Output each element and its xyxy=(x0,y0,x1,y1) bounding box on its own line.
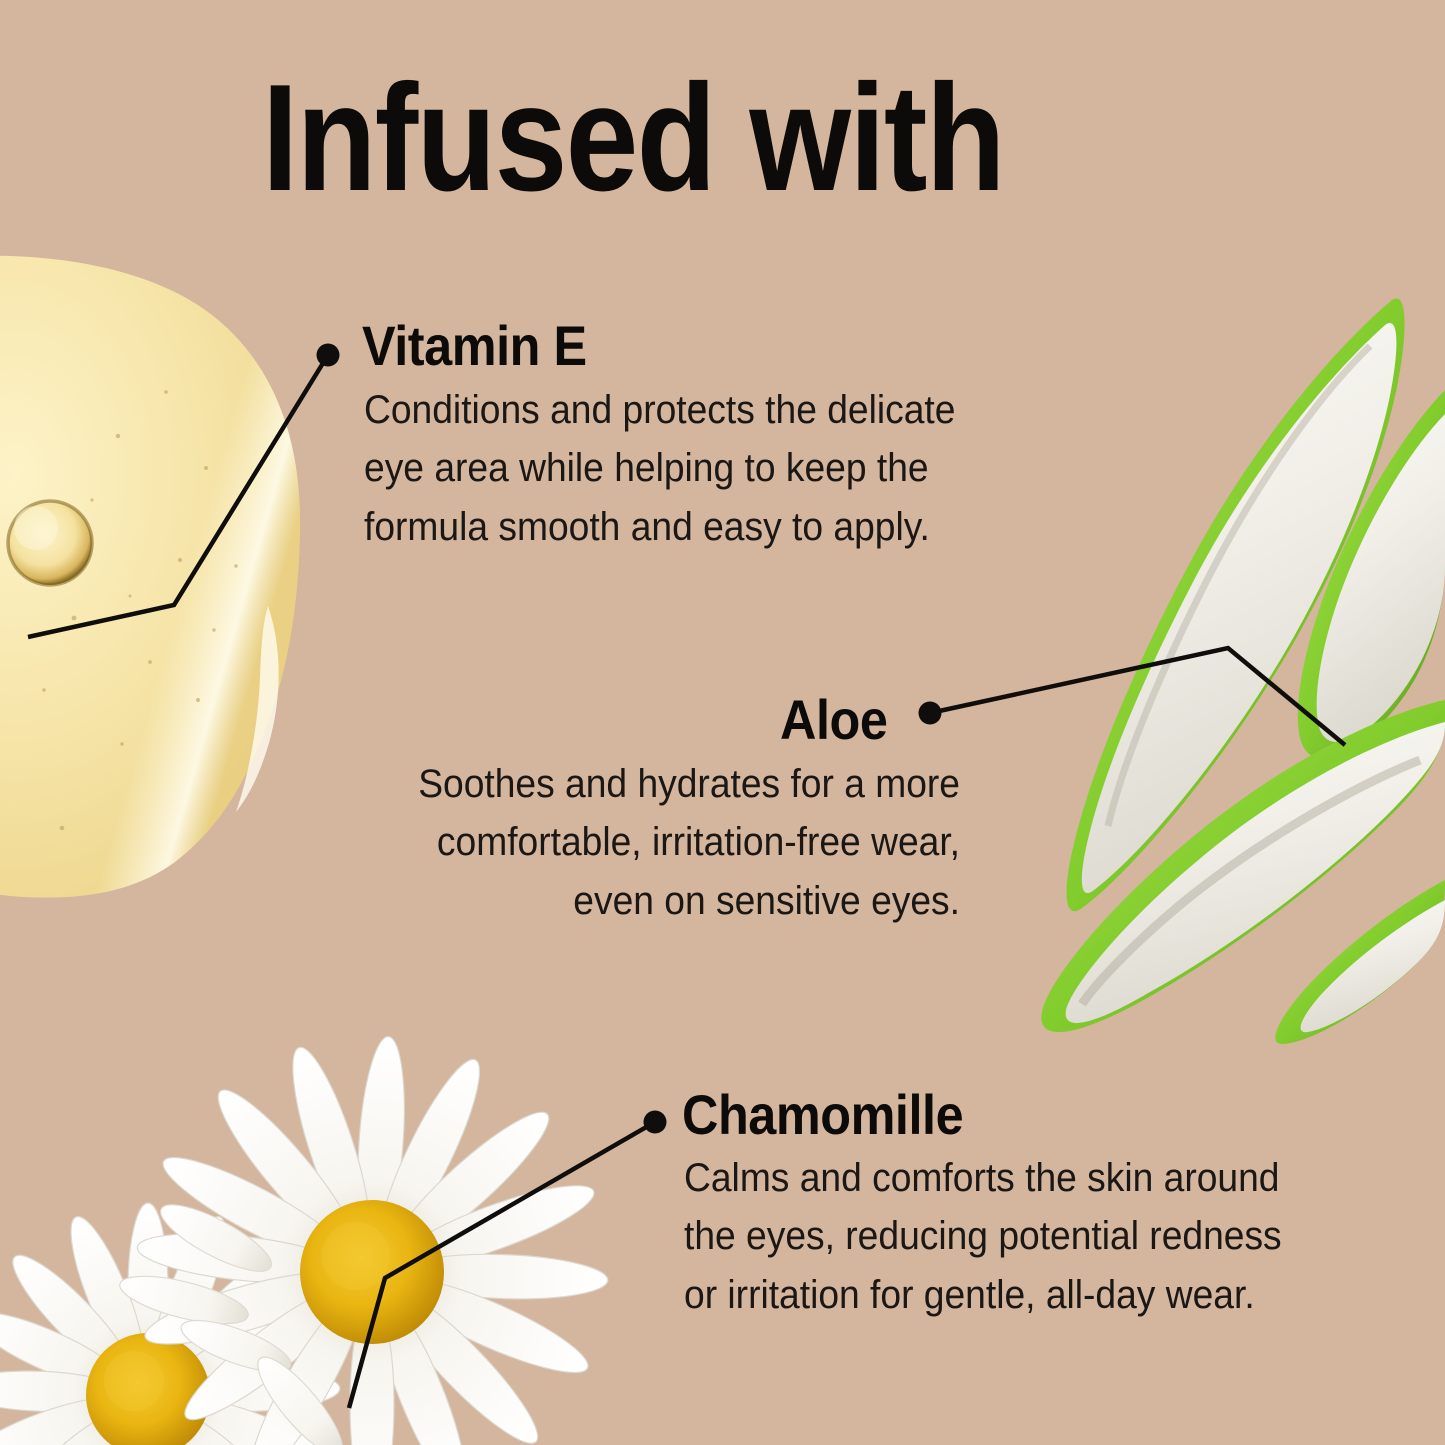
ingredient-description-vitamin-e: Conditions and protects the delicate eye… xyxy=(364,381,1015,556)
aloe-leaf-4 xyxy=(1275,880,1445,1044)
aloe-leaf-3 xyxy=(1041,700,1445,1032)
chamomile-flowers-group xyxy=(0,1035,609,1445)
vitamin-e-leader xyxy=(28,344,340,638)
ingredient-title-vitamin-e: Vitamin E xyxy=(362,318,587,374)
vitamin-e-leader-line xyxy=(28,355,328,637)
serum-blob-shape xyxy=(0,256,300,898)
serum-droplet xyxy=(8,501,92,585)
chamomile-flower-front xyxy=(135,1035,609,1445)
ingredient-description-aloe: Soothes and hydrates for a more comforta… xyxy=(346,755,960,930)
serum-blob-group xyxy=(0,256,300,898)
aloe-leader xyxy=(919,648,1346,745)
aloe-leaf-2 xyxy=(1298,390,1445,759)
serum-blob-highlight xyxy=(236,606,279,812)
aloe-marker-dot xyxy=(919,702,942,725)
serum-blob-sheen xyxy=(0,256,300,898)
chamomille-leader xyxy=(349,1111,667,1409)
ingredient-title-chamomille: Chamomille xyxy=(682,1087,963,1143)
aloe-leader-line xyxy=(930,648,1345,745)
aloe-leaf-1 xyxy=(1067,299,1405,912)
ingredient-description-chamomille: Calms and comforts the skin around the e… xyxy=(684,1149,1316,1324)
serum-speckles xyxy=(42,390,238,830)
vitamin-e-marker-dot xyxy=(317,344,340,367)
page-title: Infused with xyxy=(262,62,1004,214)
ingredient-infographic-poster: Infused with Vitamin E Conditions and pr… xyxy=(0,0,1445,1445)
ingredient-title-aloe: Aloe xyxy=(780,692,887,748)
chamomile-loose-petals xyxy=(116,1193,354,1445)
chamomille-marker-dot xyxy=(644,1111,667,1134)
chamomille-leader-line xyxy=(349,1122,655,1408)
aloe-leaves-group xyxy=(1041,299,1445,1044)
chamomile-flower-back xyxy=(0,1203,341,1445)
